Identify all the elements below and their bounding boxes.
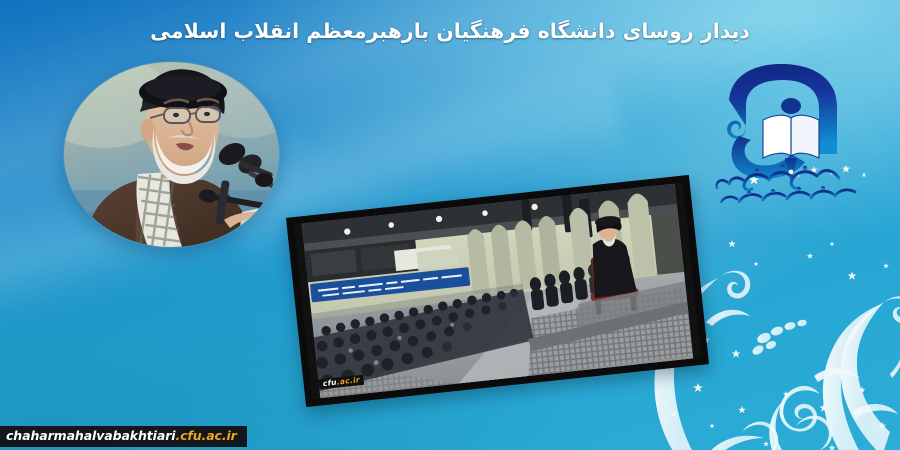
- meeting-hall-photo: cfu.ac.ir: [286, 175, 709, 407]
- photo-watermark-site: cfu: [322, 377, 337, 387]
- banner-stage: دیدار روسای دانشگاه فرهنگیان بارهبرمعظم …: [0, 0, 900, 450]
- speaker-portrait: [64, 62, 279, 247]
- university-logo: [705, 58, 870, 203]
- site-name-text: chaharmahalvabakhtiari: [6, 430, 175, 443]
- site-domain-text: .cfu.ac.ir: [175, 430, 236, 443]
- banner-title: دیدار روسای دانشگاه فرهنگیان بارهبرمعظم …: [0, 19, 900, 43]
- photo-watermark-domain: .ac.ir: [336, 375, 360, 386]
- site-url-bar[interactable]: chaharmahalvabakhtiari.cfu.ac.ir: [0, 426, 247, 447]
